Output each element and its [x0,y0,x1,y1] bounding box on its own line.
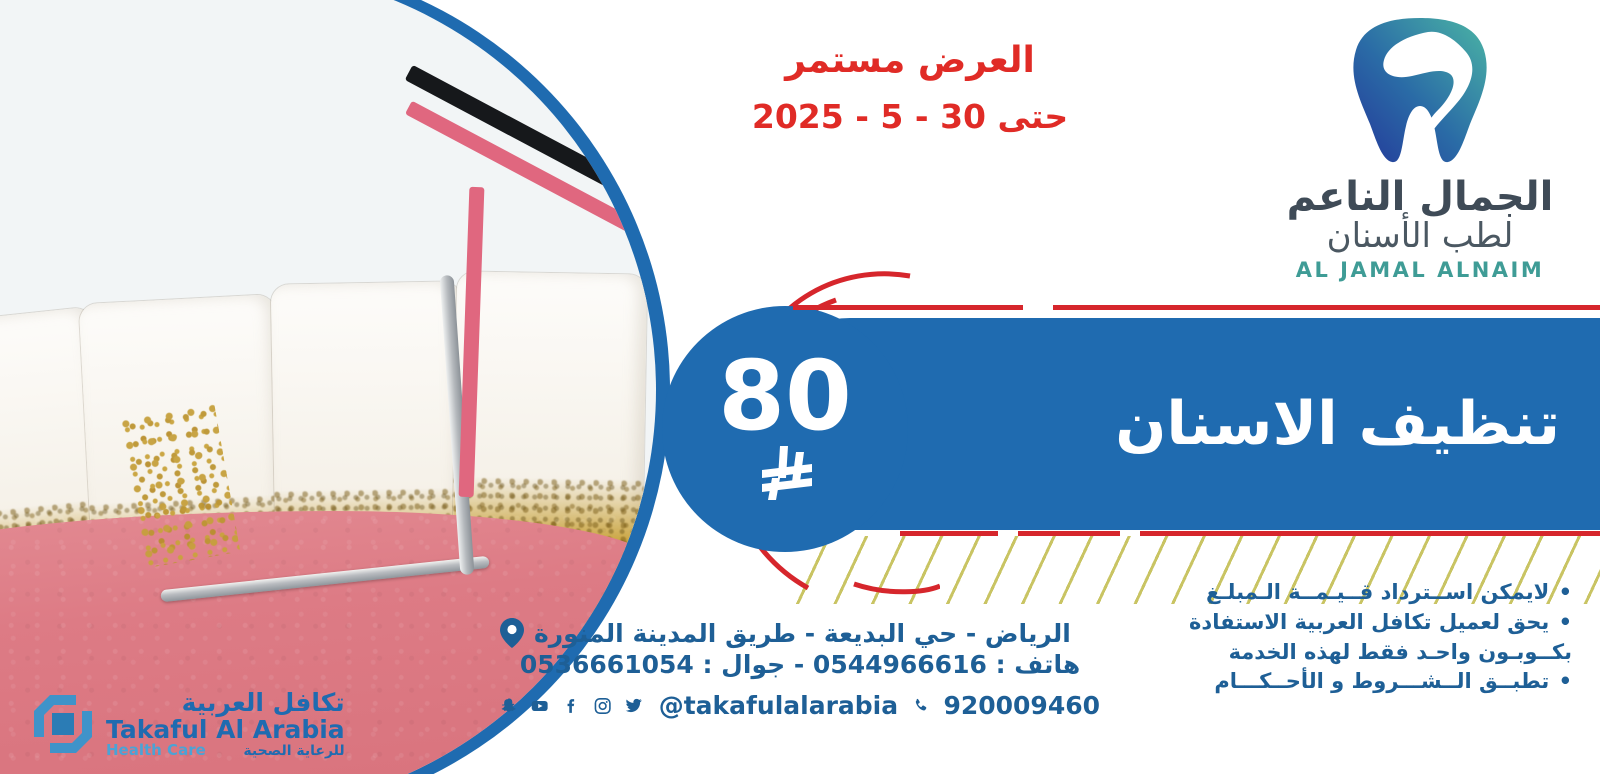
terms-list: • لايمكن اســترداد قــيـمــة الـمبلـغ • … [1142,578,1572,697]
partner-tagline-ar: للرعاية الصحية [243,744,344,758]
social-row: @takafulalarabia 920009460 [500,691,1100,720]
address-text: الرياض - حي البديعة - طريق المدينة المنو… [534,619,1071,648]
bullet-icon: • [1559,669,1572,693]
clinic-name-ar: الجمال الناعم [1270,174,1570,220]
social-handle[interactable]: @takafulalarabia [659,691,898,720]
contact-block: الرياض - حي البديعة - طريق المدينة المنو… [500,618,1100,720]
term-text: لايمكن اســترداد قــيـمــة الـمبلـغ [1206,580,1549,604]
location-pin-icon [500,618,524,648]
bullet-icon: • [1559,580,1572,604]
term-text: تطبــق الــشـــروط و الأحــكـــام [1214,669,1549,693]
promo-headline: العرض مستمر حتى 30 - 5 - 2025 [700,40,1120,136]
partner-logo: تكافل العربية Takaful Al Arabia Health C… [30,690,345,758]
dental-mirror-handle [405,65,656,230]
partner-name-ar: تكافل العربية [106,690,345,715]
price-value: 80 [718,352,852,440]
phone-icon [912,693,929,719]
bullet-icon: • [1559,610,1572,634]
instagram-icon[interactable] [594,693,611,719]
tooth-icon [1332,14,1508,166]
term-item: • تطبــق الــشـــروط و الأحــكـــام [1142,667,1572,697]
red-accent-line-top [793,305,1600,310]
promo-line-1: العرض مستمر [700,40,1120,81]
promo-line-2: حتى 30 - 5 - 2025 [700,97,1120,136]
service-title: تنظيف الاسنان [1115,389,1560,459]
term-text: يحق لعميل تكافل العربية الاستفادة بكــوب… [1189,610,1572,664]
partner-tagline-en: Health Care [106,743,206,758]
takaful-mark-icon [30,691,96,757]
facebook-icon[interactable] [563,693,580,719]
snapchat-icon[interactable] [500,693,517,719]
clinic-logo: الجمال الناعم لطب الأسنان AL JAMAL ALNAI… [1270,14,1570,282]
saudi-riyal-icon [752,444,818,506]
phone-numbers: هاتف : 0544966616 - جوال : 0536661054 [500,650,1100,679]
price-badge: 80 [662,306,908,552]
red-accent-line-bottom [900,531,1600,536]
twitter-icon[interactable] [625,693,642,719]
advertisement-poster: تكافل العربية Takaful Al Arabia Health C… [0,0,1600,774]
partner-name-en: Takaful Al Arabia [106,717,345,742]
term-item: • يحق لعميل تكافل العربية الاستفادة بكــ… [1142,608,1572,668]
address-row: الرياض - حي البديعة - طريق المدينة المنو… [500,618,1100,648]
clinic-name-en: AL JAMAL ALNAIM [1270,258,1570,282]
term-item: • لايمكن اســترداد قــيـمــة الـمبلـغ [1142,578,1572,608]
youtube-icon[interactable] [531,693,548,719]
clinic-specialty-ar: لطب الأسنان [1270,216,1570,256]
hotline-number[interactable]: 920009460 [943,691,1100,720]
